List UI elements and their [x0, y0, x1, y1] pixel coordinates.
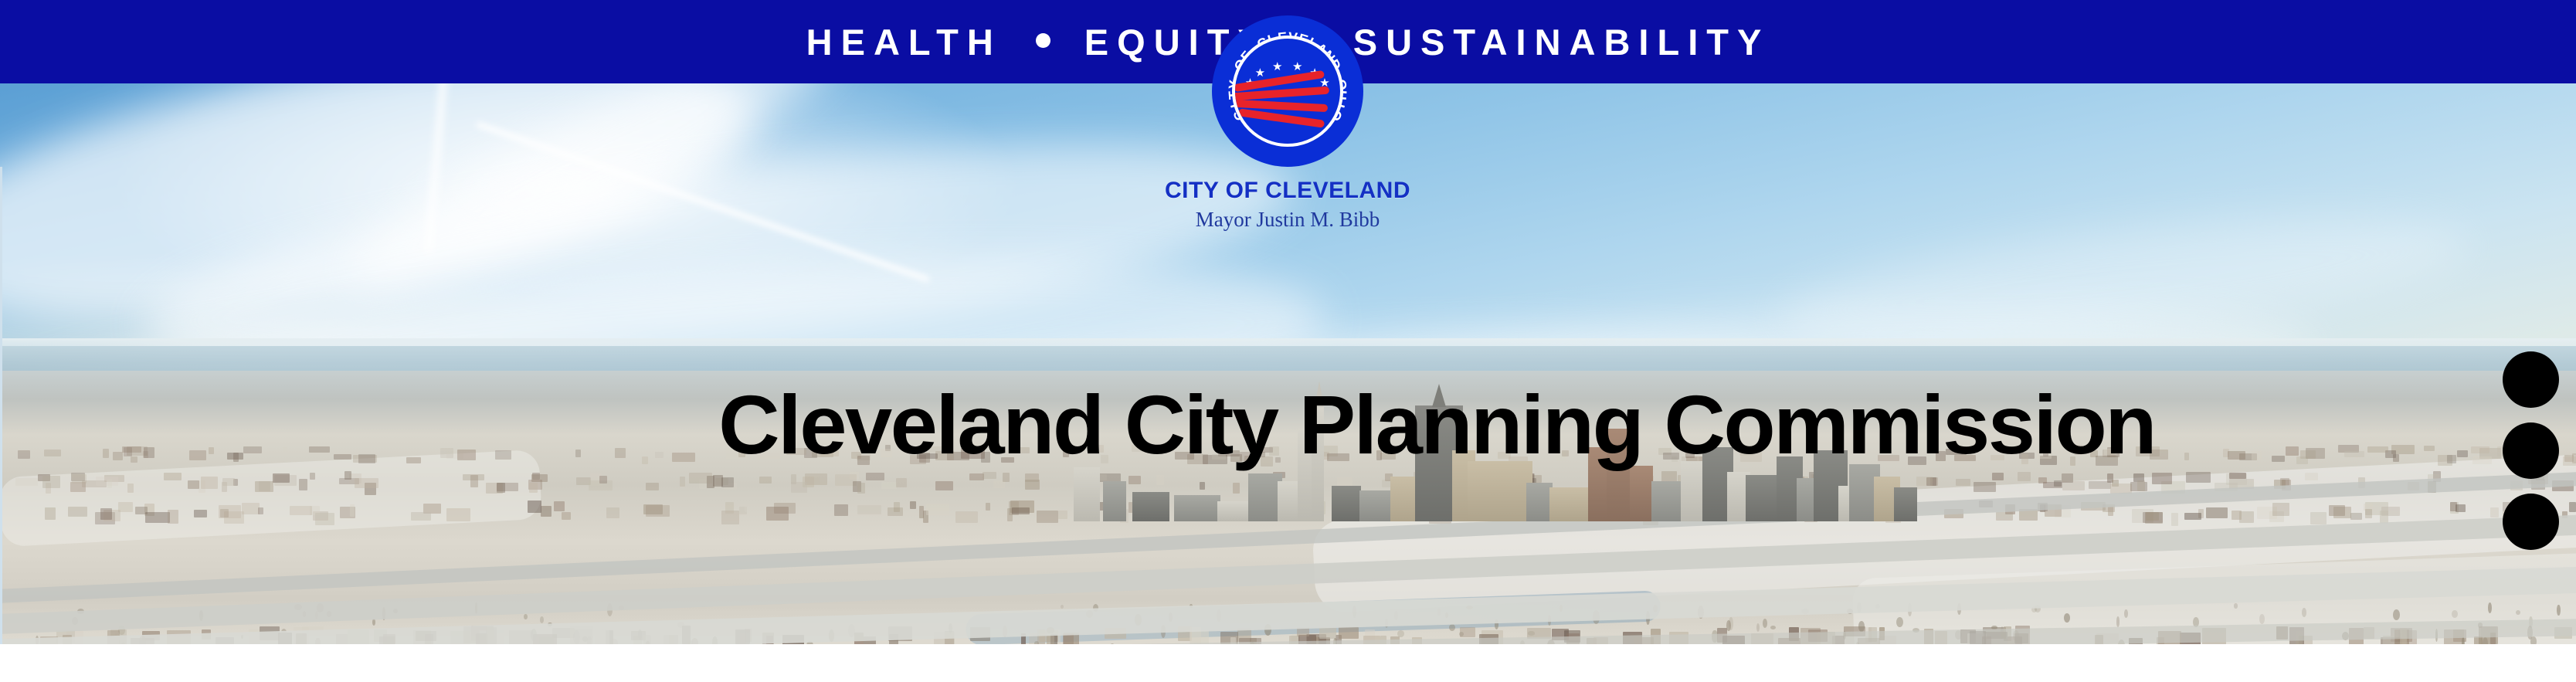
building-block	[2380, 511, 2388, 524]
tree-speck	[2462, 637, 2464, 644]
facebook-link[interactable]	[2503, 494, 2559, 550]
building-block	[2424, 446, 2435, 451]
building-block	[766, 507, 789, 521]
building-block	[1956, 479, 1970, 486]
tree-speck	[1528, 631, 1536, 635]
building-block	[646, 483, 659, 490]
building-block	[242, 503, 260, 514]
facebook-icon	[2513, 504, 2550, 541]
building-block	[2471, 446, 2489, 454]
building-block	[2393, 454, 2400, 461]
building-block	[2450, 502, 2457, 511]
building-block	[1025, 473, 1040, 483]
building-block	[2089, 481, 2111, 490]
building-block	[2563, 456, 2576, 465]
building-block	[164, 473, 182, 480]
building-block	[2569, 502, 2576, 511]
building-block	[118, 502, 132, 511]
building-block	[2186, 472, 2211, 482]
tree-speck	[1729, 617, 1733, 630]
building-block	[350, 504, 355, 516]
building-block	[2206, 507, 2228, 517]
building-block	[562, 512, 571, 520]
building-block	[857, 505, 881, 515]
seal-star: ★	[1292, 61, 1302, 73]
building-block	[857, 483, 865, 494]
building-block	[135, 507, 148, 514]
tree-speck	[2234, 603, 2237, 608]
tree-speck	[1061, 605, 1064, 609]
building-block	[2350, 513, 2361, 520]
tree-speck	[1449, 624, 1455, 631]
building-block	[355, 478, 378, 488]
building-block	[529, 483, 538, 493]
skyline-building	[1103, 481, 1126, 521]
building-block	[1003, 473, 1010, 482]
building-block	[2228, 451, 2245, 460]
building-block	[42, 476, 59, 488]
building-block	[888, 507, 903, 516]
building-block	[599, 476, 607, 484]
building-block	[290, 506, 313, 515]
tree-speck	[2124, 609, 2128, 618]
building-block	[2367, 446, 2388, 453]
building-block	[145, 512, 170, 522]
building-block	[689, 473, 711, 484]
building-block	[2344, 451, 2364, 457]
tree-speck	[2393, 609, 2400, 619]
tree-speck	[2116, 616, 2120, 627]
seal-star: ★	[1272, 61, 1282, 73]
building-block	[955, 511, 978, 523]
building-block	[721, 477, 734, 487]
building-block	[222, 478, 235, 486]
building-block	[2062, 481, 2085, 490]
building-block	[273, 473, 290, 483]
building-block	[2490, 507, 2499, 517]
tree-speck	[1763, 619, 1767, 628]
building-block	[255, 481, 273, 492]
building-block	[2474, 636, 2483, 644]
skyline-building	[1630, 466, 1653, 521]
building-block	[541, 506, 552, 517]
building-block	[344, 471, 351, 480]
building-block	[2038, 477, 2047, 484]
building-block	[2018, 472, 2031, 481]
building-block	[935, 481, 953, 490]
building-block	[1319, 627, 1336, 639]
skyline-building	[1074, 467, 1100, 521]
tree-speck	[524, 614, 528, 619]
building-block	[1339, 627, 1359, 640]
tagline-separator-dot-1	[1036, 33, 1050, 48]
building-block	[1916, 477, 1933, 485]
building-block	[299, 479, 307, 491]
building-block	[1012, 507, 1030, 514]
tree-speck	[2557, 605, 2561, 616]
tree-speck	[1459, 632, 1464, 636]
page-title: Cleveland City Planning Commission	[0, 383, 2155, 467]
building-block	[2310, 512, 2327, 524]
tree-speck	[1896, 617, 1903, 627]
building-block	[310, 473, 315, 480]
skyline-building	[1132, 492, 1169, 521]
building-block	[2365, 509, 2372, 518]
bottom-white-strip	[0, 644, 2576, 682]
skyline-building	[1332, 486, 1361, 521]
tree-speck	[1397, 630, 1404, 637]
building-block	[834, 504, 848, 516]
tree-speck	[2516, 610, 2520, 615]
building-block	[2252, 451, 2262, 461]
tree-speck	[1770, 626, 1776, 629]
building-block	[680, 477, 685, 487]
building-block	[2184, 453, 2189, 460]
building-block	[745, 504, 751, 512]
building-block	[2447, 455, 2456, 463]
city-branding-block: CITYOFCLEVELANDOHIO ★★★★★★ CITY OF CLEVE…	[1141, 15, 1434, 247]
building-block	[194, 510, 207, 517]
building-block	[15, 478, 38, 486]
building-block	[2286, 446, 2299, 456]
building-block	[1037, 511, 1058, 523]
building-block	[100, 508, 112, 519]
instagram-link[interactable]	[2503, 422, 2559, 479]
seal-inner-disc: ★★★★★★	[1232, 36, 1343, 147]
building-block	[606, 507, 620, 518]
building-block	[2062, 473, 2073, 484]
building-block	[1047, 636, 1054, 644]
building-block	[470, 475, 478, 487]
instagram-icon	[2513, 433, 2550, 470]
skyline-building	[1217, 501, 1248, 521]
building-block	[1996, 512, 2013, 521]
building-block	[2272, 456, 2285, 463]
building-block	[2171, 513, 2178, 526]
building-block	[528, 500, 541, 513]
building-block	[2457, 450, 2467, 457]
building-block	[2137, 480, 2145, 491]
city-of-cleveland-seal-icon: CITYOFCLEVELANDOHIO ★★★★★★	[1212, 15, 1363, 167]
building-block	[1992, 473, 2004, 480]
building-block	[1974, 482, 1996, 492]
social-links	[2503, 351, 2559, 550]
building-block	[2229, 473, 2246, 480]
building-block	[2108, 507, 2113, 516]
tree-speck	[2452, 610, 2458, 618]
building-block	[315, 513, 334, 525]
building-block	[881, 482, 896, 489]
building-block	[866, 473, 885, 480]
seal-flag	[1232, 73, 1343, 139]
building-block	[926, 504, 949, 515]
building-block	[2472, 456, 2493, 464]
mayor-name: Mayor Justin M. Bibb	[1196, 209, 1380, 230]
building-block	[646, 505, 669, 517]
skyline-building	[1894, 487, 1917, 521]
city-name-wordmark: CITY OF CLEVELAND	[1165, 179, 1410, 202]
tree-speck	[1756, 623, 1760, 632]
building-block	[2146, 512, 2159, 521]
building-block	[791, 482, 807, 493]
youtube-icon	[2513, 361, 2550, 399]
tree-speck	[540, 616, 545, 623]
building-block	[896, 478, 907, 487]
tree-speck	[2259, 614, 2265, 624]
building-block	[2054, 480, 2062, 487]
tagline-word-health: HEALTH	[806, 24, 1002, 60]
building-block	[983, 472, 997, 479]
building-block	[446, 508, 470, 522]
building-block	[45, 507, 56, 520]
building-block	[68, 507, 87, 517]
building-block	[2152, 473, 2172, 484]
tree-speck	[1858, 621, 1865, 631]
building-block	[2184, 513, 2201, 520]
tree-speck	[2064, 613, 2070, 623]
building-block	[258, 507, 263, 514]
header-banner-page: HEALTH EQUITY SUSTAINABILITY	[0, 0, 2576, 682]
building-block	[2296, 456, 2308, 465]
skyline-building	[1174, 495, 1220, 521]
building-block	[986, 503, 991, 511]
building-block	[554, 501, 565, 511]
building-block	[188, 480, 199, 489]
building-block	[220, 509, 229, 517]
building-block	[2239, 511, 2254, 523]
building-block	[127, 484, 134, 494]
tree-speck	[2302, 608, 2306, 617]
building-block	[759, 477, 772, 484]
building-block	[910, 501, 916, 508]
building-block	[2333, 507, 2351, 519]
building-block	[201, 477, 218, 489]
building-block	[2272, 503, 2289, 516]
building-block	[497, 483, 518, 490]
building-block	[2305, 473, 2319, 480]
skyline-building	[1526, 483, 1553, 521]
building-block	[96, 477, 118, 486]
building-block	[531, 474, 548, 481]
youtube-link[interactable]	[2503, 351, 2559, 408]
building-block	[168, 510, 178, 524]
building-block	[725, 502, 734, 514]
skyline-building	[1549, 487, 1593, 521]
building-block	[411, 512, 431, 521]
tree-speck	[2488, 602, 2492, 613]
